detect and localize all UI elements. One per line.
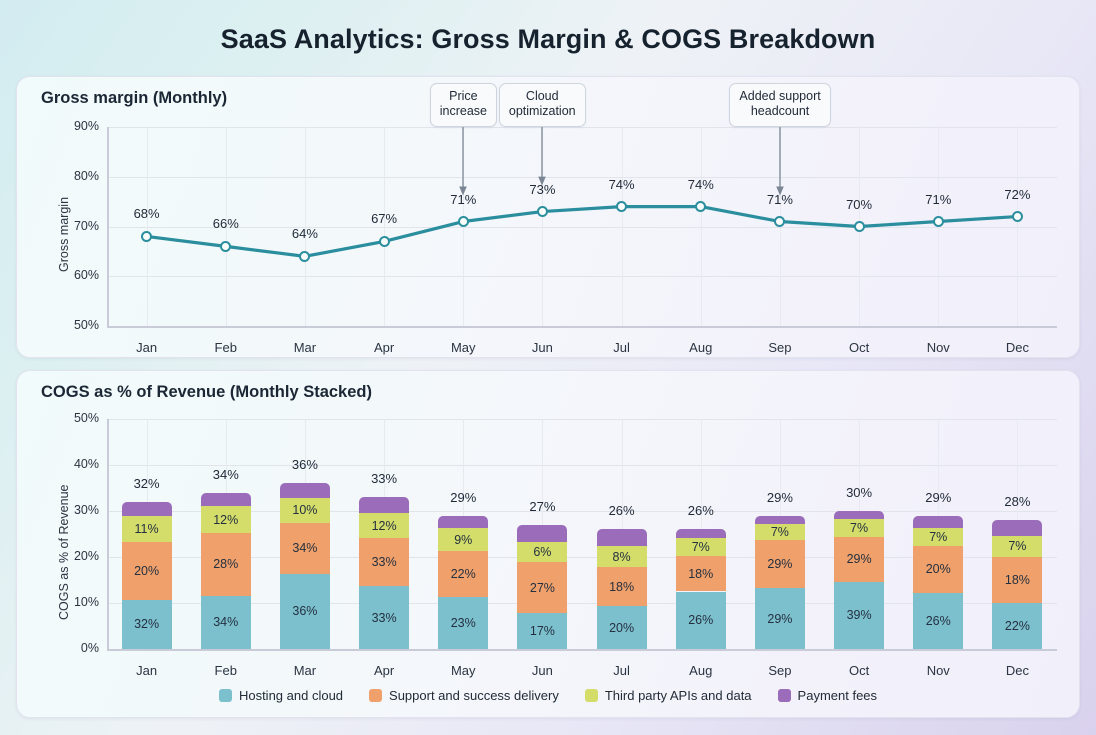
x-tick-label: Jun xyxy=(512,340,572,355)
bar-segment[interactable]: 26% xyxy=(913,593,963,649)
x-tick-label: Jul xyxy=(592,663,652,678)
bar-total-label: 29% xyxy=(433,490,493,505)
page-title: SaaS Analytics: Gross Margin & COGS Brea… xyxy=(0,0,1096,55)
bar-segment[interactable]: 7% xyxy=(992,536,1042,556)
bar-segment[interactable]: 7% xyxy=(755,524,805,540)
x-tick-label: Aug xyxy=(671,663,731,678)
cogs-card: COGS as % of Revenue (Monthly Stacked) 0… xyxy=(16,370,1080,718)
bar-total-label: 27% xyxy=(512,499,572,514)
bar-segment[interactable]: 9% xyxy=(438,528,488,551)
bar-segment[interactable] xyxy=(517,525,567,542)
bar-segment[interactable]: 23% xyxy=(438,597,488,649)
x-tick-label: Dec xyxy=(987,340,1047,355)
x-tick-label: May xyxy=(433,340,493,355)
bar-segment[interactable]: 20% xyxy=(122,542,172,600)
legend-swatch xyxy=(778,689,791,702)
x-tick-label: May xyxy=(433,663,493,678)
bar-segment[interactable]: 8% xyxy=(597,546,647,567)
bar-segment[interactable] xyxy=(122,502,172,516)
data-point-marker[interactable] xyxy=(933,216,944,227)
bar-segment[interactable] xyxy=(597,529,647,546)
bar-segment[interactable]: 26% xyxy=(676,592,726,650)
y-tick-label: 0% xyxy=(53,641,99,655)
bar-total-label: 36% xyxy=(275,457,335,472)
legend-label: Support and success delivery xyxy=(389,688,559,703)
bar-segment[interactable]: 33% xyxy=(359,538,409,586)
gross-margin-plot: 50%60%70%80%90%Gross margin68%Jan66%Feb6… xyxy=(17,77,1081,359)
data-point-label: 74% xyxy=(594,177,650,192)
bar-segment[interactable]: 29% xyxy=(755,540,805,589)
x-tick-label: Apr xyxy=(354,663,414,678)
data-point-label: 68% xyxy=(119,206,175,221)
bar-segment[interactable]: 34% xyxy=(201,596,251,649)
y-tick-label: 40% xyxy=(53,457,99,471)
x-tick-label: Mar xyxy=(275,663,335,678)
x-tick-label: Aug xyxy=(671,340,731,355)
bar-segment[interactable]: 33% xyxy=(359,586,409,649)
data-point-marker[interactable] xyxy=(379,236,390,247)
bar-total-label: 34% xyxy=(196,467,256,482)
annotation-arrow-head xyxy=(539,177,547,186)
data-point-marker[interactable] xyxy=(1012,211,1023,222)
bar-segment[interactable]: 29% xyxy=(755,588,805,649)
bar-segment[interactable] xyxy=(676,529,726,537)
bar-segment[interactable]: 20% xyxy=(913,546,963,593)
bar-segment[interactable] xyxy=(755,516,805,524)
x-tick-label: Mar xyxy=(275,340,335,355)
legend-item[interactable]: Payment fees xyxy=(778,688,878,703)
bar-total-label: 29% xyxy=(750,490,810,505)
bar-segment[interactable]: 22% xyxy=(992,603,1042,649)
x-tick-label: Feb xyxy=(196,340,256,355)
bar-segment[interactable]: 18% xyxy=(992,557,1042,603)
legend-label: Payment fees xyxy=(798,688,878,703)
x-tick-label: Jan xyxy=(117,340,177,355)
bar-segment[interactable]: 28% xyxy=(201,533,251,596)
gross-margin-card: Gross margin (Monthly) 50%60%70%80%90%Gr… xyxy=(16,76,1080,358)
annotation-callout[interactable]: Price increase xyxy=(430,83,497,127)
x-tick-label: Sep xyxy=(750,340,810,355)
bar-segment[interactable]: 27% xyxy=(517,562,567,613)
bar-segment[interactable]: 6% xyxy=(517,542,567,562)
data-point-label: 74% xyxy=(673,177,729,192)
x-tick-label: Dec xyxy=(987,663,1047,678)
bar-segment[interactable]: 12% xyxy=(201,506,251,533)
x-tick-label: Nov xyxy=(908,340,968,355)
y-axis-title: COGS as % of Revenue xyxy=(57,485,71,620)
y-axis-line xyxy=(107,419,109,649)
y-tick-label: 50% xyxy=(53,411,99,425)
bar-segment[interactable]: 7% xyxy=(913,528,963,546)
annotation-arrow-svg xyxy=(530,127,554,187)
legend-item[interactable]: Hosting and cloud xyxy=(219,688,343,703)
x-tick-label: Feb xyxy=(196,663,256,678)
bar-segment[interactable]: 10% xyxy=(280,498,330,523)
bar-segment[interactable] xyxy=(913,516,963,528)
data-point-label: 71% xyxy=(910,192,966,207)
legend-item[interactable]: Third party APIs and data xyxy=(585,688,752,703)
bar-segment[interactable]: 20% xyxy=(597,606,647,649)
bar-segment[interactable]: 12% xyxy=(359,513,409,538)
bar-segment[interactable] xyxy=(359,497,409,513)
legend-label: Hosting and cloud xyxy=(239,688,343,703)
bar-total-label: 29% xyxy=(908,490,968,505)
data-point-label: 64% xyxy=(277,226,333,241)
x-tick-label: Jul xyxy=(592,340,652,355)
annotation-arrow-svg xyxy=(451,127,475,187)
legend-swatch xyxy=(369,689,382,702)
bar-segment[interactable]: 22% xyxy=(438,551,488,597)
x-tick-label: Jan xyxy=(117,663,177,678)
bar-total-label: 32% xyxy=(117,476,177,491)
bar-segment[interactable]: 18% xyxy=(597,567,647,606)
x-tick-label: Oct xyxy=(829,340,889,355)
data-point-label: 70% xyxy=(831,197,887,212)
x-tick-label: Jun xyxy=(512,663,572,678)
legend-swatch xyxy=(219,689,232,702)
x-tick-label: Oct xyxy=(829,663,889,678)
bar-segment[interactable] xyxy=(834,511,884,519)
bar-total-label: 26% xyxy=(671,503,731,518)
legend-label: Third party APIs and data xyxy=(605,688,752,703)
legend-item[interactable]: Support and success delivery xyxy=(369,688,559,703)
bar-total-label: 28% xyxy=(987,494,1047,509)
x-axis-line xyxy=(107,649,1057,651)
data-point-marker[interactable] xyxy=(458,216,469,227)
x-tick-label: Apr xyxy=(354,340,414,355)
bar-segment[interactable]: 18% xyxy=(676,556,726,592)
data-point-marker[interactable] xyxy=(537,206,548,217)
bar-segment[interactable]: 17% xyxy=(517,613,567,649)
bar-segment[interactable] xyxy=(280,483,330,497)
bar-total-label: 33% xyxy=(354,471,414,486)
legend-swatch xyxy=(585,689,598,702)
bar-segment[interactable]: 11% xyxy=(122,516,172,542)
bar-segment[interactable]: 34% xyxy=(280,523,330,574)
data-point-label: 72% xyxy=(989,187,1045,202)
bar-segment[interactable]: 7% xyxy=(676,538,726,556)
bar-segment[interactable]: 32% xyxy=(122,600,172,649)
annotation-arrow-svg xyxy=(768,127,792,187)
bar-segment[interactable]: 7% xyxy=(834,519,884,536)
data-point-marker[interactable] xyxy=(854,221,865,232)
annotation-callout[interactable]: Cloud optimization xyxy=(499,83,586,127)
data-point-label: 66% xyxy=(198,216,254,231)
x-tick-label: Sep xyxy=(750,663,810,678)
bar-segment[interactable] xyxy=(438,516,488,528)
bar-segment[interactable]: 39% xyxy=(834,582,884,649)
bar-segment[interactable] xyxy=(992,520,1042,536)
bar-segment[interactable]: 36% xyxy=(280,574,330,649)
data-point-label: 67% xyxy=(356,211,412,226)
bar-total-label: 26% xyxy=(592,503,652,518)
annotation-callout[interactable]: Added support headcount xyxy=(729,83,830,127)
data-point-marker[interactable] xyxy=(141,231,152,242)
cogs-legend: Hosting and cloudSupport and success del… xyxy=(17,688,1079,703)
bar-segment[interactable]: 29% xyxy=(834,537,884,582)
bar-total-label: 30% xyxy=(829,485,889,500)
cogs-plot: 0%10%20%30%40%50%COGS as % of Revenue32%… xyxy=(17,371,1081,719)
gridline-y xyxy=(107,419,1057,420)
bar-segment[interactable] xyxy=(201,493,251,507)
x-tick-label: Nov xyxy=(908,663,968,678)
